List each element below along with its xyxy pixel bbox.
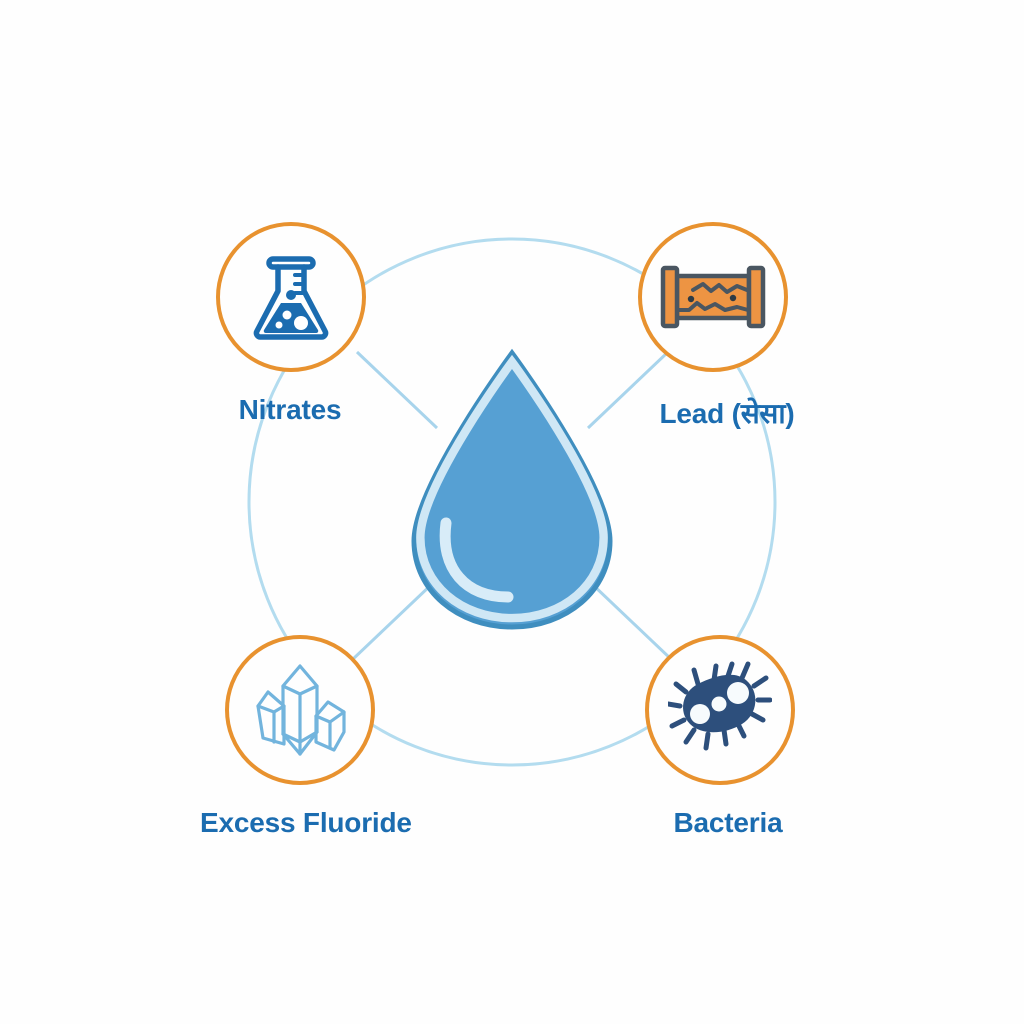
node-fluoride-label: Excess Fluoride — [200, 807, 400, 839]
node-nitrates[interactable]: Nitrates — [191, 222, 391, 426]
node-bacteria[interactable]: Bacteria — [620, 635, 820, 839]
node-fluoride[interactable]: Excess Fluoride — [200, 635, 400, 839]
diagram-canvas: Nitrates Lead (सेसा) — [0, 0, 1024, 1024]
flask-icon — [249, 251, 333, 343]
node-lead-ring[interactable] — [638, 222, 788, 372]
bacteria-icon — [668, 660, 772, 760]
node-nitrates-label: Nitrates — [189, 394, 391, 426]
water-droplet-icon — [404, 345, 620, 635]
corroded-pipe-icon — [657, 260, 769, 334]
node-bacteria-label: Bacteria — [636, 807, 820, 839]
node-lead-label: Lead (सेसा) — [641, 394, 813, 432]
crystal-cluster-icon — [250, 662, 350, 758]
node-nitrates-ring[interactable] — [216, 222, 366, 372]
node-lead[interactable]: Lead (सेसा) — [613, 222, 813, 432]
node-bacteria-ring[interactable] — [645, 635, 795, 785]
node-fluoride-ring[interactable] — [225, 635, 375, 785]
